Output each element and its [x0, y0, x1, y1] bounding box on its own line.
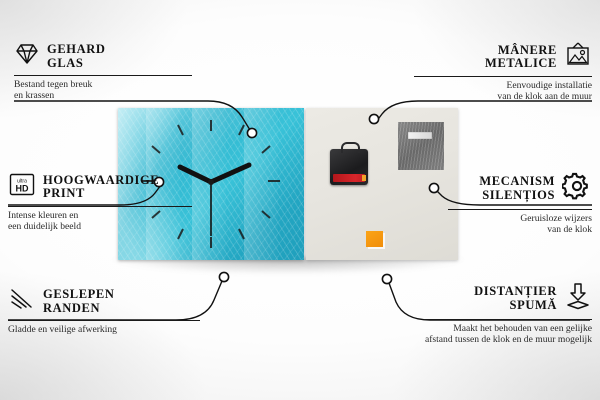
- foam-spacer-arrow-icon: [564, 282, 592, 315]
- diamond-icon: [14, 42, 40, 71]
- feature-title: MECANISM SILENȚIOS: [479, 175, 555, 202]
- wall-clock-back: [306, 108, 458, 260]
- feature-title: GESLEPEN RANDEN: [43, 288, 115, 315]
- feature-subtitle: Maakt het behouden van een gelijke afsta…: [424, 323, 592, 346]
- feature-distantier-spuma: DISTANȚIER SPUMĂ Maakt het behouden van …: [424, 282, 592, 346]
- feature-subtitle: Eenvoudige installatie van de klok aan d…: [414, 80, 592, 103]
- ultra-hd-icon: ultra HD: [8, 172, 36, 202]
- orange-foam-spacer: [366, 231, 383, 247]
- feature-geslepen-randen: GESLEPEN RANDEN Gladde en veilige afwerk…: [8, 287, 200, 335]
- feature-subtitle: Intense kleuren en een duidelijk beeld: [8, 210, 192, 233]
- divider-rule: [14, 75, 192, 76]
- gear-icon: [562, 172, 592, 205]
- divider-rule: [8, 320, 200, 321]
- picture-frame-hanger-icon: [564, 42, 592, 72]
- feature-subtitle: Bestand tegen breuk en krassen: [14, 79, 192, 102]
- feature-mecanism-silentios: MECANISM SILENȚIOS Geruisloze wijzers va…: [448, 172, 592, 236]
- aa-battery: [333, 174, 365, 182]
- feature-title: HOOGWAARDIGE PRINT: [43, 174, 159, 201]
- feature-title: DISTANȚIER SPUMĂ: [474, 285, 557, 312]
- divider-rule: [424, 319, 592, 320]
- feature-title: GEHARD GLAS: [47, 43, 105, 70]
- feature-title: MÂNERE METALICE: [485, 44, 557, 71]
- infographic-canvas: GEHARD GLAS Bestand tegen breuk en krass…: [0, 0, 600, 400]
- divider-rule: [8, 206, 192, 207]
- divider-rule: [414, 76, 592, 77]
- feature-subtitle: Geruisloze wijzers van de klok: [448, 213, 592, 236]
- quartz-movement-box: [330, 149, 368, 185]
- feature-hoogwaardige-print: ultra HD HOOGWAARDIGE PRINT Intense kleu…: [8, 172, 192, 233]
- diagonal-lines-icon: [8, 287, 36, 316]
- metal-hanger-plate: [398, 122, 444, 170]
- divider-rule: [448, 209, 592, 210]
- svg-text:HD: HD: [16, 184, 29, 194]
- feature-gehard-glas: GEHARD GLAS Bestand tegen breuk en krass…: [14, 42, 192, 102]
- feature-manere-metalice: MÂNERE METALICE Eenvoudige installatie v…: [414, 42, 592, 103]
- feature-subtitle: Gladde en veilige afwerking: [8, 324, 200, 335]
